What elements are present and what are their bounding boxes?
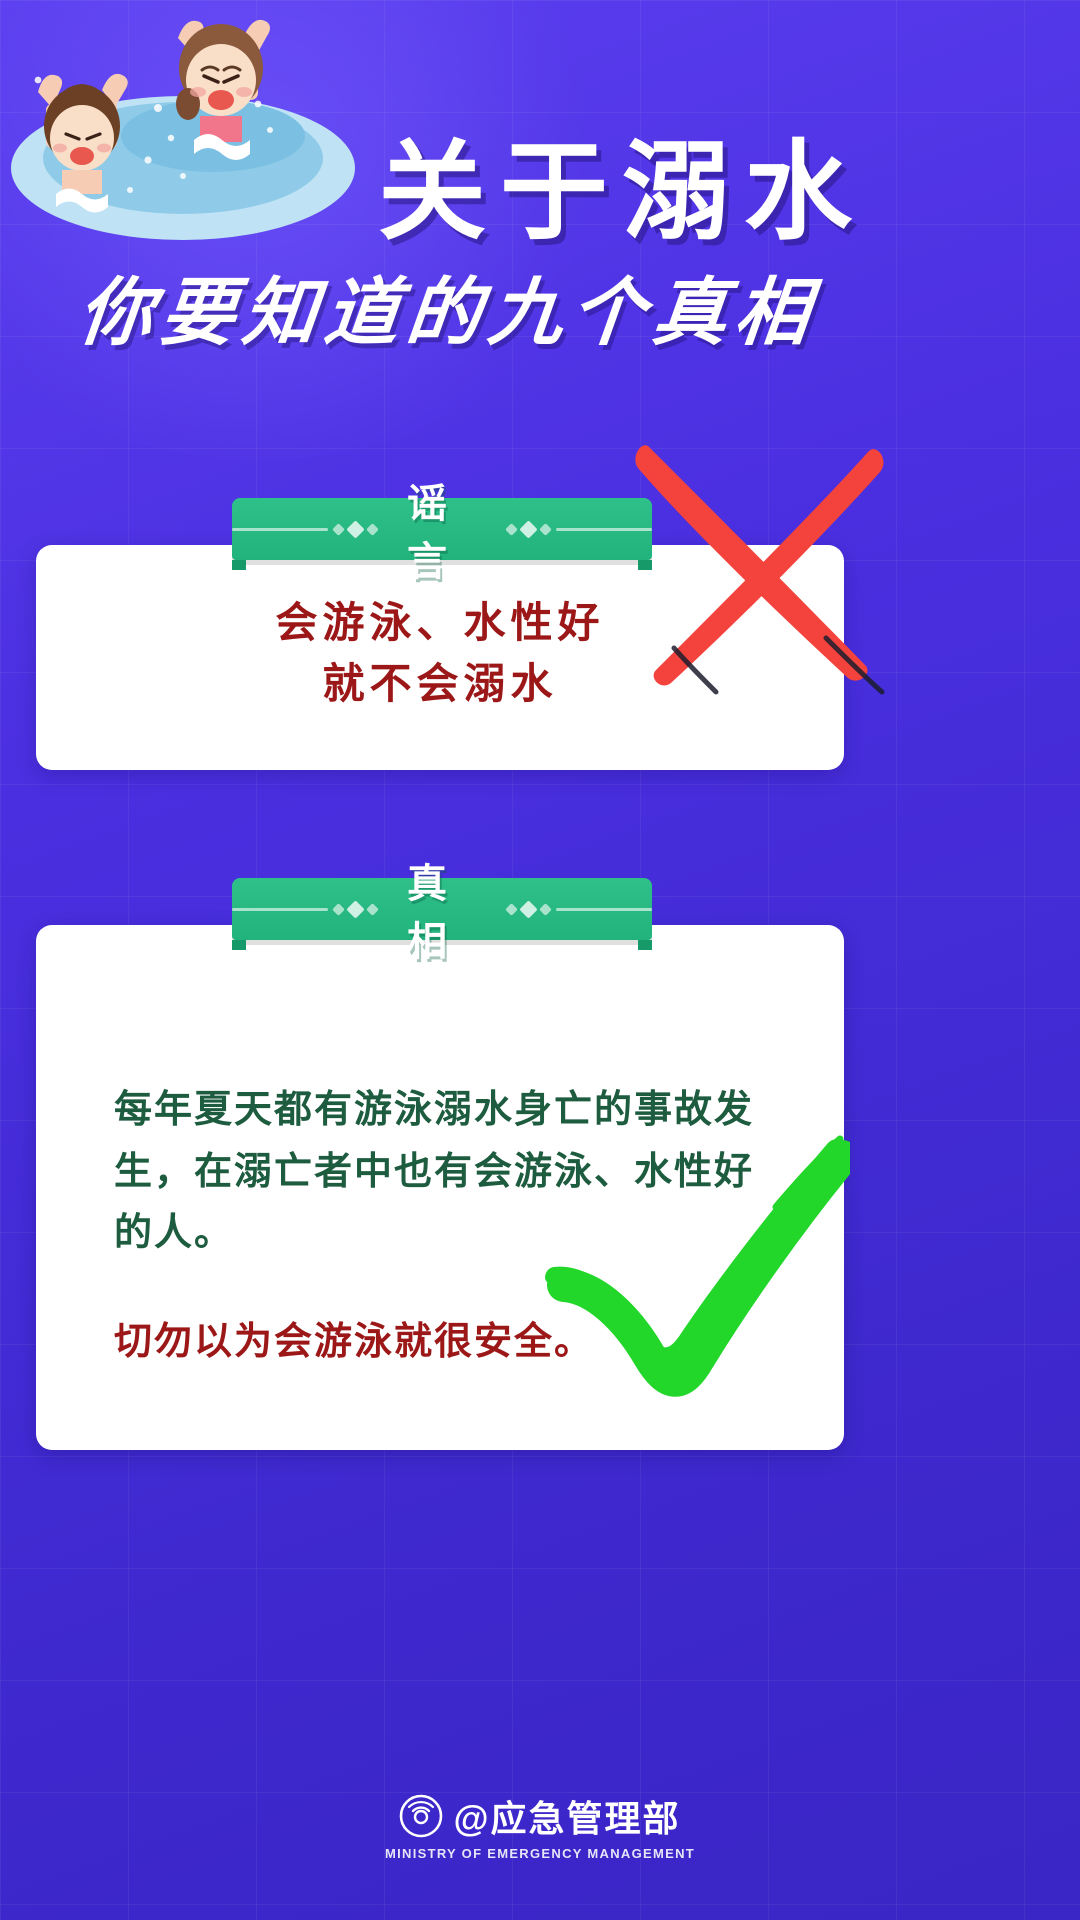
banner-decoration-left	[232, 903, 377, 916]
red-cross-mark	[620, 430, 900, 710]
two-children-drowning-illustration	[8, 8, 388, 258]
footer-org-name: @应急管理部	[453, 1790, 680, 1842]
banner-decoration-right	[507, 903, 652, 916]
poster-root: 关于溺水 你要知道的九个真相 会游泳、水性好 就不会溺水 谣言 每年夏天都有游泳…	[0, 0, 1080, 1920]
page-title: 关于溺水	[378, 138, 1038, 246]
green-check-mark	[540, 1135, 850, 1405]
rumor-banner-label: 谣言	[407, 471, 477, 587]
footer: @应急管理部 MINISTRY OF EMERGENCY MANAGEMENT	[0, 1790, 1080, 1861]
truth-banner-label: 真相	[407, 851, 477, 967]
truth-banner: 真相	[232, 878, 652, 940]
rumor-banner: 谣言	[232, 498, 652, 560]
weibo-at-logo	[399, 1794, 443, 1838]
footer-logo-row: @应急管理部	[399, 1790, 680, 1842]
banner-decoration-left	[232, 523, 377, 536]
footer-org-name-en: MINISTRY OF EMERGENCY MANAGEMENT	[385, 1846, 695, 1861]
page-subtitle: 你要知道的九个真相	[44, 272, 853, 353]
